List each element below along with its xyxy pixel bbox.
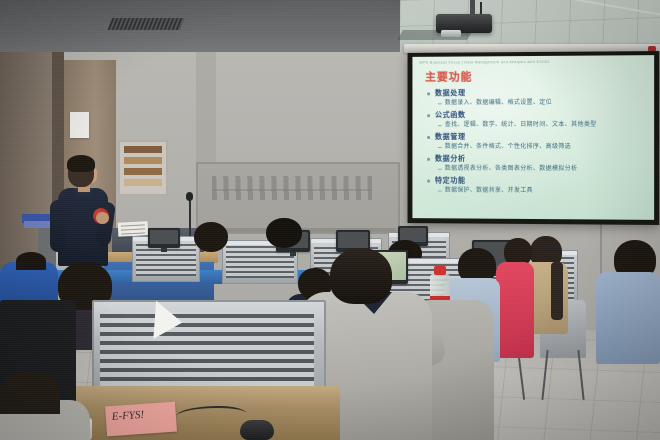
ceiling-left [0, 0, 420, 58]
slide-section: 公式函数 查找、逻辑、数学、统计、日期时间、文本、其他类型 [426, 110, 651, 130]
monitor [148, 228, 180, 248]
presenter-hand [96, 212, 109, 224]
slide-section-detail: 查找、逻辑、数学、统计、日期时间、文本、其他类型 [426, 120, 651, 130]
sticky-note-text: E-FYS! [111, 409, 144, 423]
projector-lens [441, 30, 461, 37]
whiteboard-writing [212, 176, 372, 200]
microphone-head [186, 192, 193, 201]
attendee-light-blue-shirt [596, 272, 660, 364]
attendee-long-hair [551, 262, 563, 320]
bottle-cap [434, 266, 446, 275]
attendee-head [16, 252, 46, 270]
computer-mouse [240, 420, 274, 440]
man-gray-suit-head [330, 248, 392, 304]
slide-body: 数据处理 数据录入、数据编辑、格式设置、定位 公式函数 查找、逻辑、数学、统计、… [426, 87, 651, 198]
slide-section-detail: 数据录入、数据编辑、格式设置、定位 [426, 98, 651, 109]
glasses-icon [544, 244, 560, 251]
ceiling-vent [108, 18, 185, 30]
slide-section-detail: 数据合并、条件格式、个性化排序、高级筛选 [426, 142, 651, 152]
slide-section-heading: 公式函数 [426, 110, 651, 120]
slide-section-detail: 数据保护、数据共享、开发工具 [426, 186, 651, 197]
student-head [194, 222, 228, 252]
partition-louvers [100, 312, 314, 390]
wall-picture [118, 140, 168, 196]
slide-section: 数据分析 数据透视表分析、各类图表分析、数据模拟分析 [426, 154, 651, 175]
mouse-cable [176, 406, 246, 424]
attendee-pink-top [496, 262, 534, 358]
slide-title: 主要功能 [425, 68, 472, 84]
sticky-note: E-FYS! [105, 402, 177, 437]
podium-papers [118, 221, 149, 237]
student-head [266, 218, 302, 248]
wall-notice-paper [70, 112, 89, 138]
slide-section-detail: 数据透视表分析、各类图表分析、数据模拟分析 [426, 164, 651, 175]
projection-screen: WPS Business Focus | Data Management and… [412, 55, 654, 220]
classroom-photo: WPS Business Focus | Data Management and… [0, 0, 660, 440]
slide-section-heading: 数据分析 [426, 154, 651, 164]
presenter-left-arm [50, 200, 66, 252]
slide-section: 特定功能 数据保护、数据共享、开发工具 [426, 176, 651, 197]
presenter-hair [67, 155, 95, 172]
slide-section: 数据处理 数据录入、数据编辑、格式设置、定位 [426, 87, 651, 108]
slide-section: 数据管理 数据合并、条件格式、个性化排序、高级筛选 [426, 132, 651, 152]
attendee-head-bottom-left [0, 372, 60, 414]
slide-section-heading: 数据管理 [426, 132, 651, 142]
